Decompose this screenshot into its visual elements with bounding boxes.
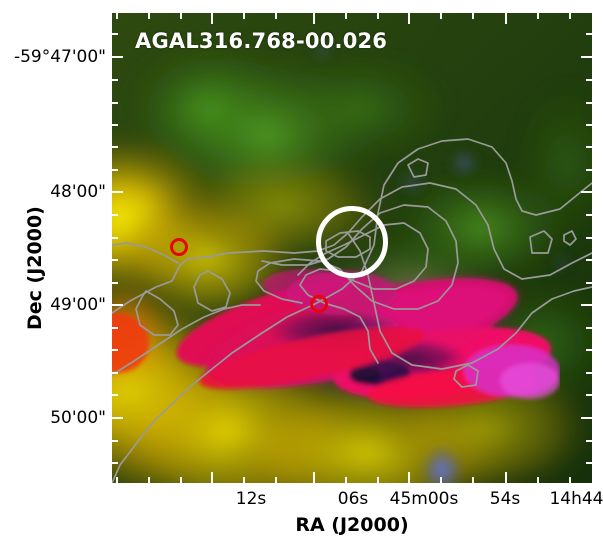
y-tick-minor-right — [586, 214, 592, 216]
y-tick-minor-right — [586, 327, 592, 329]
x-tick-major-top — [211, 13, 213, 24]
y-tick-minor — [112, 259, 118, 261]
y-tick-minor — [112, 282, 118, 284]
y-tick-major-right — [581, 56, 592, 58]
y-tick-label: -59°47'00" — [2, 47, 106, 67]
x-tick-major — [505, 472, 507, 483]
y-tick-minor-right — [586, 146, 592, 148]
y-tick-major-right — [581, 417, 592, 419]
x-tick-major — [313, 472, 315, 483]
y-tick-minor-right — [586, 33, 592, 35]
x-tick-minor — [472, 477, 474, 483]
x-tick-minor-top — [243, 13, 245, 19]
y-tick-minor-right — [586, 102, 592, 104]
y-tick-minor-right — [586, 440, 592, 442]
x-tick-minor-top — [537, 13, 539, 19]
x-tick-minor — [243, 477, 245, 483]
y-tick-minor — [112, 214, 118, 216]
red-source-1-circle — [170, 238, 188, 256]
x-tick-minor-top — [569, 13, 571, 19]
y-tick-minor — [112, 372, 118, 374]
x-tick-minor — [569, 477, 571, 483]
x-tick-minor-top — [116, 13, 118, 19]
y-tick-minor — [112, 440, 118, 442]
x-tick-minor — [275, 477, 277, 483]
y-tick-minor-right — [586, 394, 592, 396]
x-tick-label: 12s — [211, 489, 291, 509]
y-axis-title: Dec (J2000) — [24, 206, 46, 330]
page-title: AGAL316.768-00.026 — [135, 29, 387, 53]
y-tick-major — [112, 56, 123, 58]
y-tick-label: 48'00" — [2, 182, 106, 202]
y-tick-minor — [112, 124, 118, 126]
x-tick-minor — [377, 477, 379, 483]
x-tick-minor — [440, 477, 442, 483]
x-tick-major — [211, 472, 213, 483]
x-tick-minor-top — [377, 13, 379, 19]
x-tick-minor — [116, 477, 118, 483]
y-tick-minor-right — [586, 237, 592, 239]
y-tick-minor-right — [586, 462, 592, 464]
source-aperture-circle — [316, 206, 388, 278]
x-axis-title: RA (J2000) — [112, 514, 592, 536]
x-tick-major-top — [505, 13, 507, 24]
x-tick-major — [408, 472, 410, 483]
y-tick-major — [112, 417, 123, 419]
y-tick-minor — [112, 169, 118, 171]
x-tick-minor — [345, 477, 347, 483]
x-tick-minor — [148, 477, 150, 483]
y-tick-minor-right — [586, 259, 592, 261]
y-tick-minor — [112, 394, 118, 396]
y-tick-minor-right — [586, 169, 592, 171]
x-tick-minor-top — [345, 13, 347, 19]
y-tick-minor-right — [586, 124, 592, 126]
y-tick-major-right — [581, 191, 592, 193]
y-tick-minor-right — [586, 79, 592, 81]
y-tick-minor — [112, 327, 118, 329]
y-tick-minor-right — [586, 349, 592, 351]
y-tick-major — [112, 304, 123, 306]
red-source-2-circle — [310, 295, 328, 313]
y-tick-minor — [112, 102, 118, 104]
y-tick-major — [112, 191, 123, 193]
y-tick-minor-right — [586, 282, 592, 284]
x-tick-minor-top — [440, 13, 442, 19]
y-tick-minor-right — [586, 372, 592, 374]
x-tick-minor — [180, 477, 182, 483]
y-tick-minor — [112, 146, 118, 148]
x-tick-minor — [537, 477, 539, 483]
y-tick-minor — [112, 349, 118, 351]
x-tick-major-top — [313, 13, 315, 24]
y-tick-label: 50'00" — [2, 408, 106, 428]
x-tick-major-top — [408, 13, 410, 24]
x-tick-minor-top — [472, 13, 474, 19]
y-tick-minor — [112, 462, 118, 464]
x-tick-minor-top — [275, 13, 277, 19]
figure-root: AGAL316.768-00.026 — [0, 0, 603, 543]
y-tick-minor — [112, 33, 118, 35]
x-tick-minor-top — [148, 13, 150, 19]
y-tick-minor — [112, 237, 118, 239]
y-tick-major-right — [581, 304, 592, 306]
image-plot-area[interactable]: AGAL316.768-00.026 — [112, 13, 592, 483]
y-tick-minor — [112, 79, 118, 81]
x-tick-label: 14h44m48s — [494, 489, 603, 509]
y-tick-label: 49'00" — [2, 295, 106, 315]
x-tick-minor-top — [180, 13, 182, 19]
